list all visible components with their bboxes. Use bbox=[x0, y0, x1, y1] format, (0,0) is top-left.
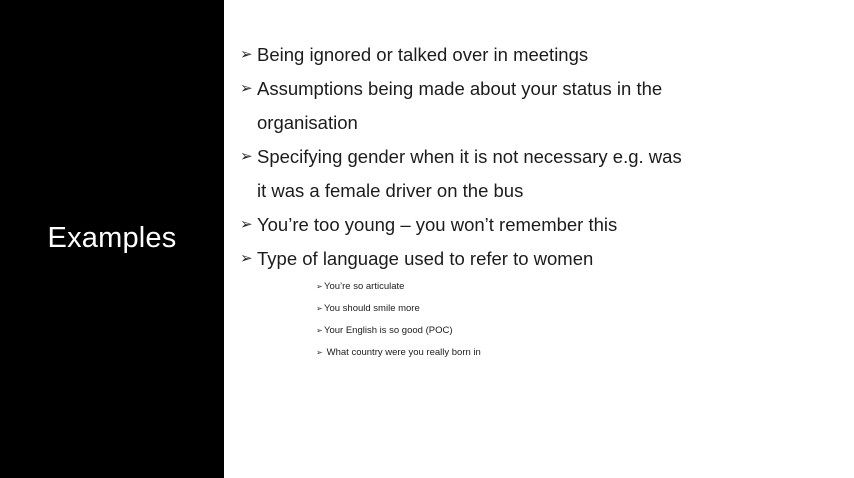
arrow-bullet-icon: ➢ bbox=[316, 298, 324, 320]
list-item: ➢ You’re so articulate bbox=[316, 276, 616, 298]
arrow-bullet-icon: ➢ bbox=[240, 242, 257, 276]
bullet-list: ➢ Being ignored or talked over in meetin… bbox=[240, 38, 695, 276]
list-item-label: Assumptions being made about your status… bbox=[257, 72, 695, 140]
arrow-bullet-icon: ➢ bbox=[240, 72, 257, 106]
sub-bullet-list: ➢ You’re so articulate ➢ You should smil… bbox=[316, 276, 616, 364]
list-item: ➢ Type of language used to refer to wome… bbox=[240, 242, 695, 276]
arrow-bullet-icon: ➢ bbox=[316, 342, 324, 364]
list-item-label: You should smile more bbox=[324, 298, 616, 320]
list-item: ➢ You should smile more bbox=[316, 298, 616, 320]
slide: Examples ➢ Being ignored or talked over … bbox=[0, 0, 854, 478]
arrow-bullet-icon: ➢ bbox=[316, 276, 324, 298]
list-item-label: Specifying gender when it is not necessa… bbox=[257, 140, 695, 208]
list-item-label: You’re too young – you won’t remember th… bbox=[257, 208, 695, 242]
list-item-label: What country were you really born in bbox=[324, 342, 616, 364]
arrow-bullet-icon: ➢ bbox=[240, 208, 257, 242]
arrow-bullet-icon: ➢ bbox=[240, 38, 257, 72]
page-title: Examples bbox=[0, 222, 224, 255]
list-item-label: You’re so articulate bbox=[324, 276, 616, 298]
arrow-bullet-icon: ➢ bbox=[240, 140, 257, 174]
list-item-label: Your English is so good (POC) bbox=[324, 320, 616, 342]
list-item: ➢ Your English is so good (POC) bbox=[316, 320, 616, 342]
list-item: ➢ Being ignored or talked over in meetin… bbox=[240, 38, 695, 72]
list-item: ➢ Specifying gender when it is not neces… bbox=[240, 140, 695, 208]
list-item-label: Type of language used to refer to women bbox=[257, 242, 695, 276]
arrow-bullet-icon: ➢ bbox=[316, 320, 324, 342]
list-item: ➢ You’re too young – you won’t remember … bbox=[240, 208, 695, 242]
list-item: ➢ Assumptions being made about your stat… bbox=[240, 72, 695, 140]
content-area: ➢ Being ignored or talked over in meetin… bbox=[224, 0, 854, 478]
list-item-label: Being ignored or talked over in meetings bbox=[257, 38, 695, 72]
list-item: ➢ What country were you really born in bbox=[316, 342, 616, 364]
